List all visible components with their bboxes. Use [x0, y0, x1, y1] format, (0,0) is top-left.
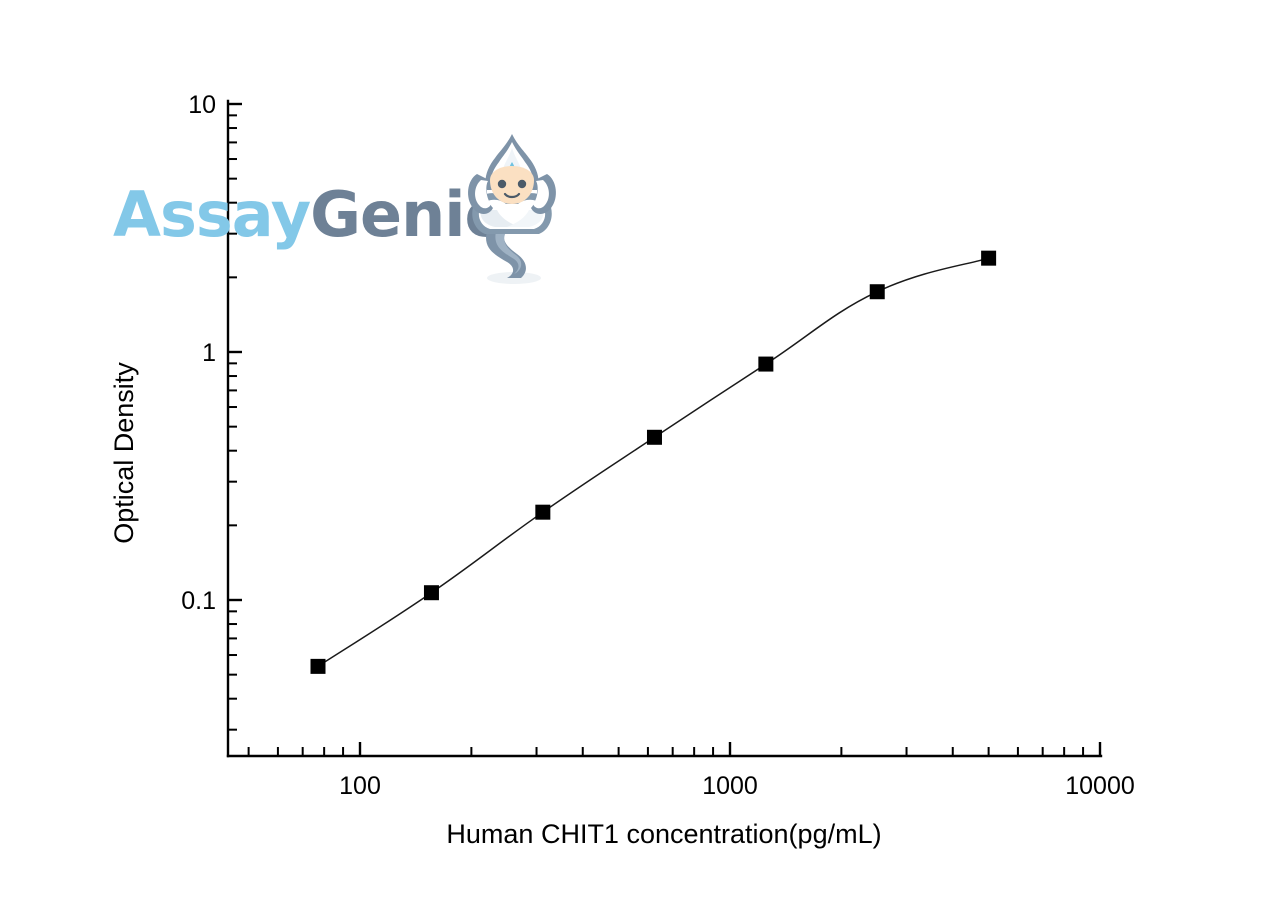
y-tick-label: 0.1: [181, 587, 216, 615]
y-tick-label: 10: [188, 91, 216, 119]
axes-group: [228, 101, 1101, 756]
data-point-marker: [424, 585, 439, 600]
x-tick-label: 1000: [702, 772, 758, 800]
data-point-marker: [981, 251, 996, 266]
data-point-marker: [311, 659, 326, 674]
data-point-marker: [758, 357, 773, 372]
x-axis-ticks: [249, 742, 1100, 756]
x-axis-tick-labels: 100100010000: [339, 772, 1135, 800]
x-axis-title: Human CHIT1 concentration(pg/mL): [446, 819, 881, 849]
y-tick-label: 1: [202, 339, 216, 367]
chart-container: 1010.1 100100010000 Optical Density Huma…: [0, 0, 1280, 904]
x-tick-label: 100: [339, 772, 381, 800]
curve-line: [318, 258, 989, 666]
data-point-markers: [311, 251, 997, 674]
data-point-marker: [535, 505, 550, 520]
y-axis-ticks: [228, 104, 242, 730]
x-tick-label: 10000: [1065, 772, 1135, 800]
data-point-marker: [647, 430, 662, 445]
y-axis-tick-labels: 1010.1: [181, 91, 216, 615]
data-point-marker: [870, 284, 885, 299]
y-axis-title: Optical Density: [109, 362, 139, 544]
standard-curve-plot: 1010.1 100100010000 Optical Density Huma…: [0, 0, 1280, 904]
